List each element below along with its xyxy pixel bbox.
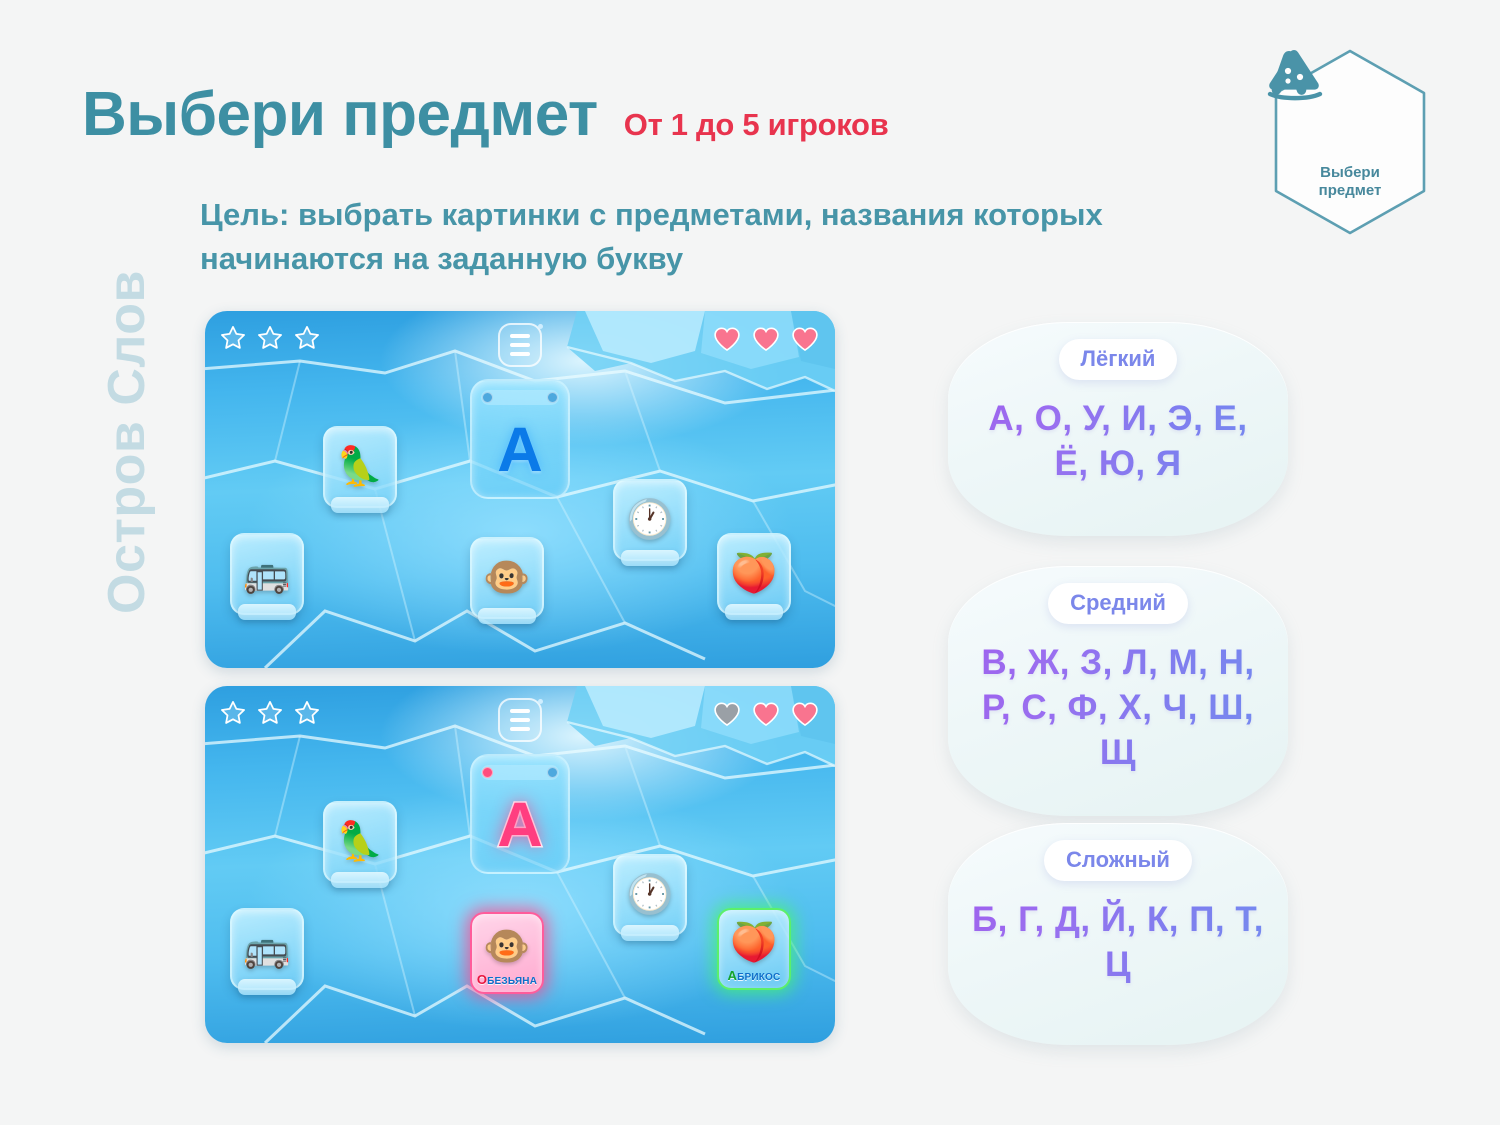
tile-word-first-letter: А bbox=[728, 968, 738, 983]
poster-root: Выбери предмет От 1 до 5 игроков Цель: в… bbox=[0, 0, 1500, 1125]
heart-full-icon bbox=[713, 326, 741, 352]
tile-base bbox=[621, 925, 679, 941]
object-tile-parrot[interactable]: 🦜 bbox=[323, 426, 397, 508]
apricot-icon: 🍑 bbox=[730, 924, 777, 962]
bus-icon: 🚌 bbox=[243, 930, 290, 968]
tile-base bbox=[238, 979, 296, 995]
star-empty-icon bbox=[219, 324, 247, 352]
object-tile-bus[interactable]: 🚌 bbox=[230, 908, 304, 990]
difficulty-card-medium: Средний В, Ж, З, Л, М, Н, Р, С, Ф, Х, Ч,… bbox=[948, 566, 1288, 816]
parrot-icon: 🦜 bbox=[336, 448, 383, 486]
object-tile-clock[interactable]: 🕐 bbox=[613, 479, 687, 561]
heart-full-icon bbox=[752, 701, 780, 727]
letter-card-dot-right bbox=[547, 392, 558, 403]
parrot-icon: 🦜 bbox=[336, 823, 383, 861]
target-letter-card: А bbox=[470, 754, 570, 874]
target-letter-card: А bbox=[470, 379, 570, 499]
logo-caption-line1: Выбери bbox=[1319, 164, 1382, 182]
tile-base bbox=[478, 608, 536, 624]
tile-base bbox=[238, 604, 296, 620]
letter-card-dot-left bbox=[482, 392, 493, 403]
object-tile-apricot-correct[interactable]: 🍑 АБРИКОС bbox=[717, 908, 791, 990]
stars-hud bbox=[219, 324, 321, 352]
target-letter: А bbox=[472, 784, 568, 866]
target-letter: А bbox=[472, 409, 568, 491]
bus-icon: 🚌 bbox=[243, 555, 290, 593]
star-empty-icon bbox=[219, 699, 247, 727]
difficulty-badge: Сложный bbox=[1044, 840, 1192, 881]
letter-card-dot-right bbox=[547, 767, 558, 778]
difficulty-letters: В, Ж, З, Л, М, Н, Р, С, Ф, Х, Ч, Ш, Щ bbox=[948, 641, 1288, 775]
object-tile-monkey-wrong[interactable]: 🐵 ОБЕЗЬЯНА bbox=[470, 912, 544, 994]
logo-caption-line2: предмет bbox=[1319, 182, 1382, 200]
header: Выбери предмет От 1 до 5 игроков bbox=[82, 84, 888, 146]
star-empty-icon bbox=[293, 699, 321, 727]
object-tile-apricot[interactable]: 🍑 bbox=[717, 533, 791, 615]
letter-card-dot-left bbox=[482, 767, 493, 778]
clock-icon: 🕐 bbox=[626, 876, 673, 914]
game-screenshot-start-state: А 🦜 🚌 🐵 🕐 🍑 bbox=[205, 311, 835, 668]
page-title: Выбери предмет bbox=[82, 84, 598, 146]
players-count-label: От 1 до 5 игроков bbox=[624, 107, 889, 143]
monkey-icon: 🐵 bbox=[483, 559, 530, 597]
object-tile-bus[interactable]: 🚌 bbox=[230, 533, 304, 615]
heart-full-icon bbox=[791, 326, 819, 352]
object-tile-parrot[interactable]: 🦜 bbox=[323, 801, 397, 883]
difficulty-card-easy: Лёгкий А, О, У, И, Э, Е, Ё, Ю, Я bbox=[948, 322, 1288, 536]
goal-description: Цель: выбрать картинки с предметами, наз… bbox=[200, 193, 1160, 281]
heart-lost-icon bbox=[713, 701, 741, 727]
cheese-triangle-icon bbox=[1266, 47, 1324, 101]
tile-word-rest: БРИКОС bbox=[737, 972, 780, 983]
logo-caption: Выбери предмет bbox=[1319, 164, 1382, 201]
hamburger-menu-icon[interactable] bbox=[498, 323, 542, 367]
hamburger-menu-icon[interactable] bbox=[498, 698, 542, 742]
apricot-icon: 🍑 bbox=[730, 555, 777, 593]
lives-hud bbox=[713, 701, 819, 727]
star-empty-icon bbox=[256, 699, 284, 727]
series-name-vertical: Остров Слов bbox=[97, 232, 157, 652]
stars-hud bbox=[219, 699, 321, 727]
object-tile-monkey[interactable]: 🐵 bbox=[470, 537, 544, 619]
tile-word-label: ОБЕЗЬЯНА bbox=[472, 972, 542, 987]
monkey-icon: 🐵 bbox=[483, 928, 530, 966]
difficulty-letters: Б, Г, Д, Й, К, П, Т, Ц bbox=[948, 898, 1288, 988]
tile-word-first-letter: О bbox=[477, 972, 487, 987]
menu-notification-dot bbox=[538, 324, 543, 329]
tile-base bbox=[331, 872, 389, 888]
menu-notification-dot bbox=[538, 699, 543, 704]
heart-full-icon bbox=[791, 701, 819, 727]
difficulty-badge: Лёгкий bbox=[1059, 339, 1178, 380]
difficulty-badge: Средний bbox=[1048, 583, 1188, 624]
heart-full-icon bbox=[752, 326, 780, 352]
clock-icon: 🕐 bbox=[626, 501, 673, 539]
tile-base bbox=[725, 604, 783, 620]
object-tile-clock[interactable]: 🕐 bbox=[613, 854, 687, 936]
difficulty-card-hard: Сложный Б, Г, Д, Й, К, П, Т, Ц bbox=[948, 823, 1288, 1045]
app-logo: Выбери предмет bbox=[1266, 47, 1434, 237]
game-screenshot-feedback-state: А 🦜 🚌 🐵 ОБЕЗЬЯНА 🕐 🍑 АБРИКОС bbox=[205, 686, 835, 1043]
star-empty-icon bbox=[256, 324, 284, 352]
tile-word-label: АБРИКОС bbox=[719, 968, 789, 983]
tile-word-rest: БЕЗЬЯНА bbox=[487, 976, 537, 987]
tile-base bbox=[331, 497, 389, 513]
tile-base bbox=[621, 550, 679, 566]
difficulty-letters: А, О, У, И, Э, Е, Ё, Ю, Я bbox=[948, 397, 1288, 487]
star-empty-icon bbox=[293, 324, 321, 352]
lives-hud bbox=[713, 326, 819, 352]
